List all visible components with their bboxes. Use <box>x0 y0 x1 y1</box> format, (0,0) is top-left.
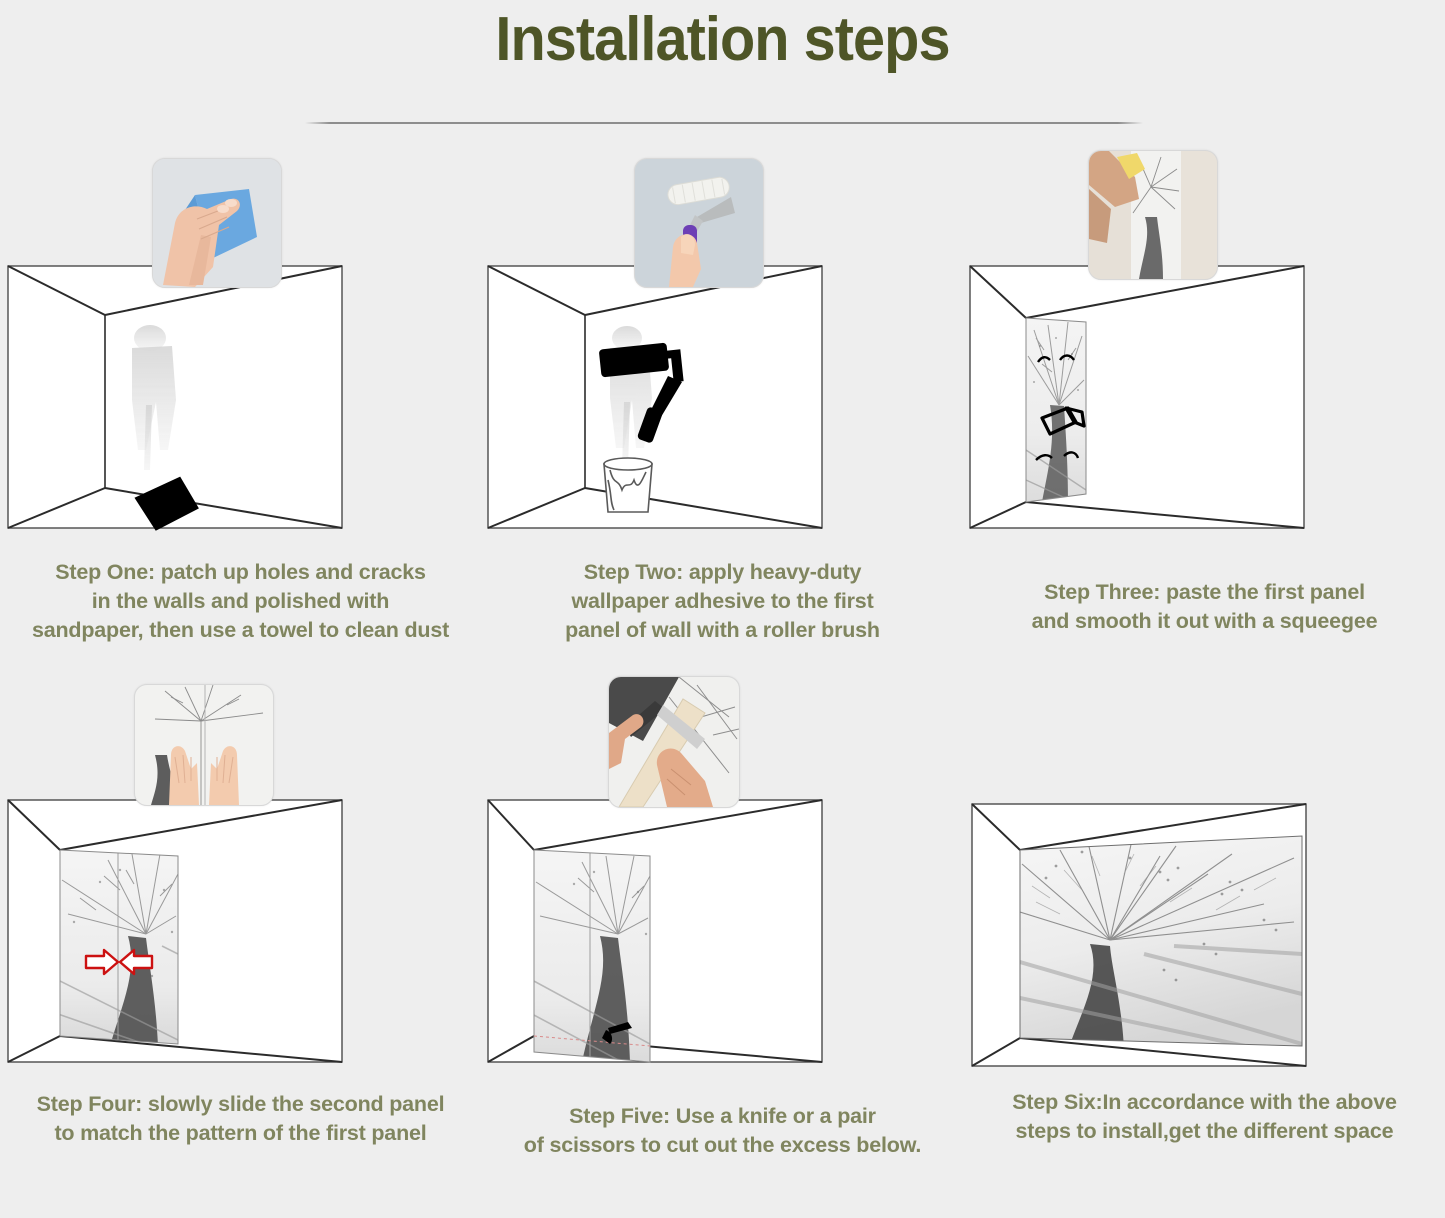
step-caption-three: Step Three: paste the first panel and sm… <box>964 578 1445 636</box>
inset-photo-five <box>608 676 740 808</box>
inset-photo-four <box>134 684 274 806</box>
step-caption-six: Step Six:In accordance with the above st… <box>964 1088 1445 1146</box>
step-caption-four: Step Four: slowly slide the second panel… <box>0 1090 481 1148</box>
installation-steps-infographic: Installation steps <box>0 0 1445 1217</box>
inset-photo-one <box>152 158 282 288</box>
step-caption-five: Step Five: Use a knife or a pair of scis… <box>482 1102 963 1160</box>
step-caption-one: Step One: patch up holes and cracks in t… <box>0 558 481 645</box>
inset-photo-two <box>634 158 764 288</box>
steps-row-bottom: Step Four: slowly slide the second panel… <box>0 684 1445 1218</box>
step-card-three: Step Three: paste the first panel and sm… <box>964 150 1445 684</box>
step-card-four: Step Four: slowly slide the second panel… <box>0 684 481 1218</box>
inset-photo-three <box>1088 150 1218 280</box>
step-caption-two: Step Two: apply heavy-duty wallpaper adh… <box>482 558 963 645</box>
steps-grid: Step One: patch up holes and cracks in t… <box>0 150 1445 1218</box>
title-divider <box>305 122 1143 124</box>
steps-row-top: Step One: patch up holes and cracks in t… <box>0 150 1445 684</box>
step-card-two: Step Two: apply heavy-duty wallpaper adh… <box>482 150 963 684</box>
step-card-one: Step One: patch up holes and cracks in t… <box>0 150 481 684</box>
page-title: Installation steps <box>51 4 1395 75</box>
step-card-five: Step Five: Use a knife or a pair of scis… <box>482 684 963 1218</box>
step-card-six: Step Six:In accordance with the above st… <box>964 684 1445 1218</box>
paint-bucket-icon <box>604 458 652 512</box>
